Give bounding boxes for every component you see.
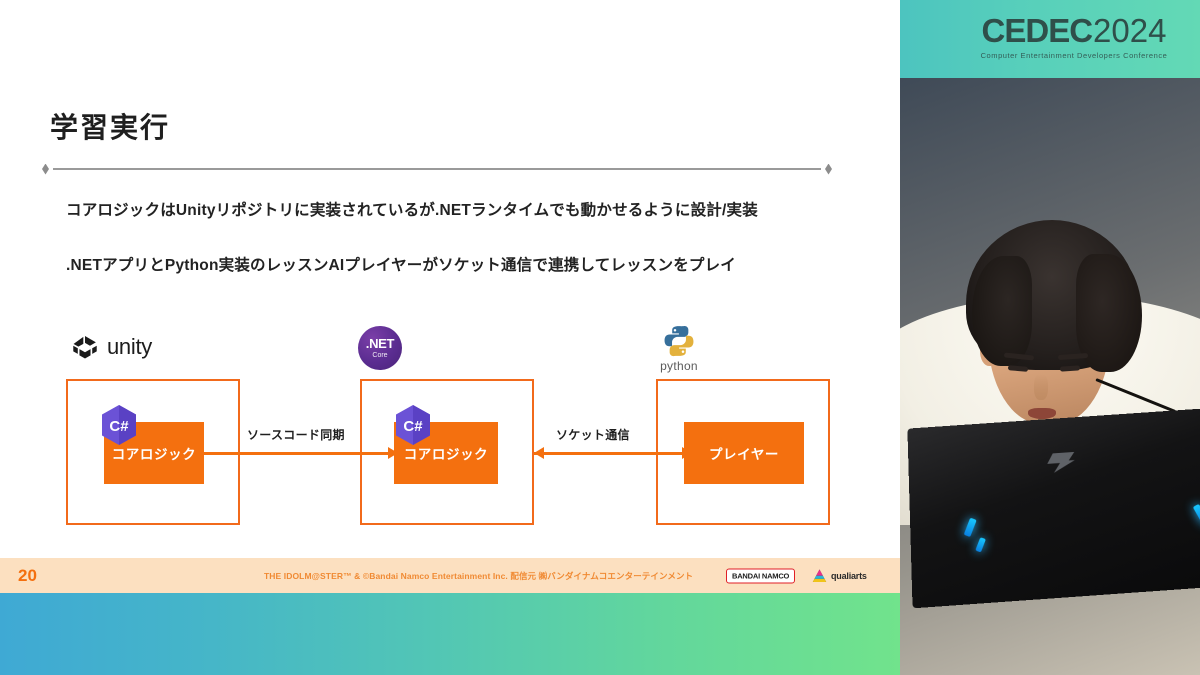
connector-socket-line xyxy=(534,452,690,455)
connector-source-sync-label: ソースコード同期 xyxy=(247,426,345,443)
cedec-event-badge: CEDEC2024 Computer Entertainment Develop… xyxy=(968,14,1180,60)
connector-socket-label: ソケット通信 xyxy=(556,426,630,443)
csharp-badge-icon: C# xyxy=(394,404,432,446)
cedec-badge-subtitle: Computer Entertainment Developers Confer… xyxy=(968,51,1180,60)
presenter-nose xyxy=(1034,374,1048,400)
laptop-led-accent xyxy=(975,537,986,552)
presentation-slide: 学習実行 コアロジックはUnityリポジトリに実装されているが.NETランタイム… xyxy=(0,78,900,558)
svg-text:C#: C# xyxy=(109,418,129,435)
connector-socket-arrowhead-left-icon xyxy=(534,447,544,459)
bottom-gradient-band xyxy=(0,593,900,675)
laptop-brand-logo-icon xyxy=(1047,452,1076,473)
python-logo: python xyxy=(650,324,708,373)
slide-area: 学習実行 コアロジックはUnityリポジトリに実装されているが.NETランタイム… xyxy=(0,0,900,675)
qualiarts-logo: qualiarts xyxy=(812,569,867,583)
qualiarts-triangle-icon xyxy=(812,569,827,583)
copyright-credit: THE IDOLM@STER™ & ©Bandai Namco Entertai… xyxy=(264,570,693,582)
svg-text:C#: C# xyxy=(403,418,423,435)
unity-mark-icon xyxy=(70,332,100,362)
presenter-mouth xyxy=(1028,408,1056,419)
python-mark-icon xyxy=(662,324,696,358)
dotnet-core-sublabel: Core xyxy=(372,352,387,359)
diagram-box-python-player: プレイヤー xyxy=(684,422,804,484)
presenter-laptop xyxy=(907,407,1200,609)
dotnet-wordmark: .NET xyxy=(366,337,394,350)
dotnet-core-logo: .NET Core xyxy=(358,326,402,370)
cedec-badge-year: 2024 xyxy=(1093,14,1166,47)
bandai-namco-logo: BANDAI NAMCO xyxy=(726,568,795,583)
unity-wordmark: unity xyxy=(107,334,152,360)
cedec-badge-main: CEDEC2024 xyxy=(968,14,1180,47)
cedec-badge-name: CEDEC xyxy=(982,14,1093,47)
python-wordmark: python xyxy=(650,359,708,373)
presenter-hair-side-left xyxy=(972,256,1032,366)
laptop-led-accent xyxy=(1193,504,1200,525)
page-number: 20 xyxy=(18,566,37,586)
unity-logo: unity xyxy=(70,332,152,362)
architecture-diagram: unity .NET Core python xyxy=(0,78,900,558)
connector-source-sync-line xyxy=(204,452,397,455)
screen: CEDEC2024 Computer Entertainment Develop… xyxy=(0,0,1200,675)
slide-footer: 20 THE IDOLM@STER™ & ©Bandai Namco Enter… xyxy=(0,558,900,593)
presenter-camera-feed xyxy=(900,78,1200,675)
laptop-led-accent xyxy=(964,518,977,537)
csharp-badge-icon: C# xyxy=(100,404,138,446)
qualiarts-wordmark: qualiarts xyxy=(831,571,867,581)
